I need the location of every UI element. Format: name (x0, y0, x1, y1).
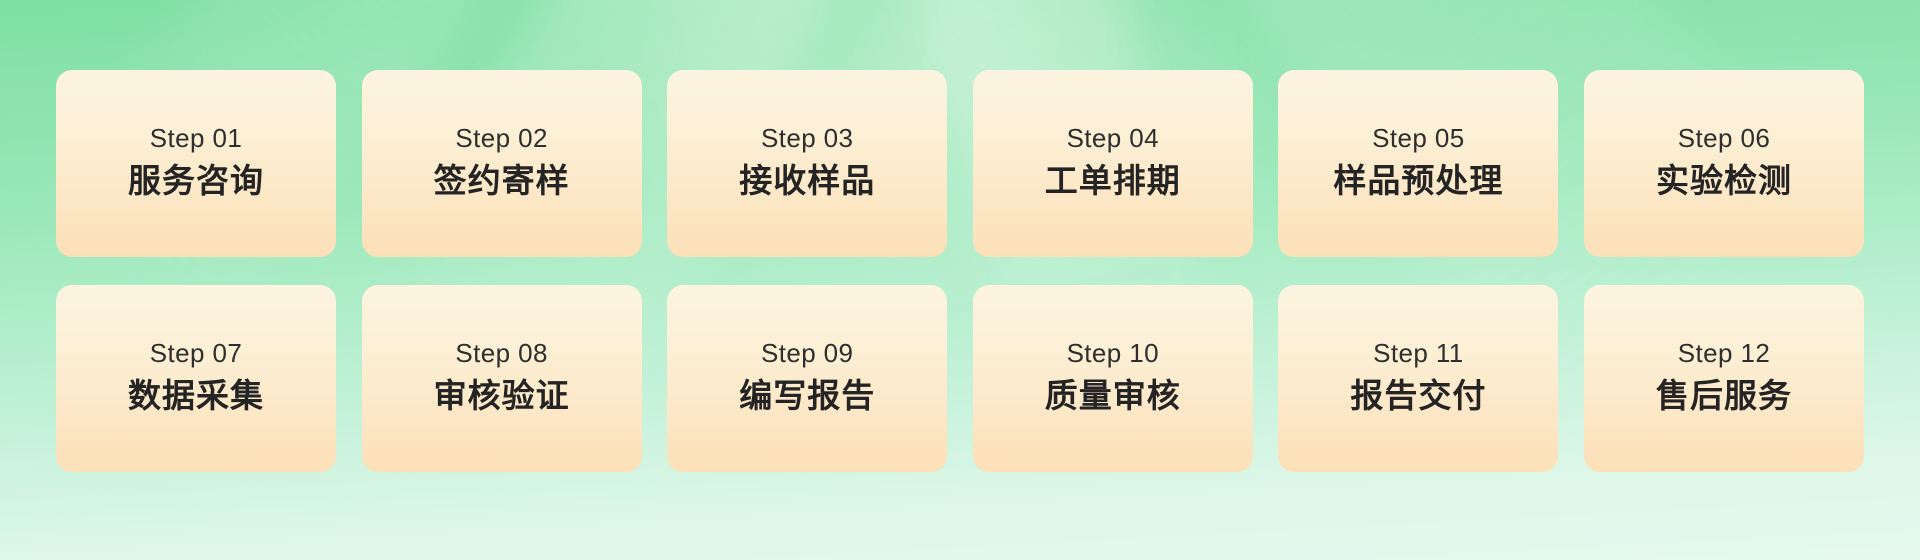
step-card-08[interactable]: Step 08 审核验证 (362, 285, 642, 472)
step-card-04[interactable]: Step 04 工单排期 (973, 70, 1253, 257)
step-title-label: 工单排期 (1045, 161, 1181, 201)
step-title-label: 报告交付 (1350, 376, 1486, 416)
step-number-label: Step 06 (1678, 122, 1770, 155)
step-card-02[interactable]: Step 02 签约寄样 (362, 70, 642, 257)
step-card-01[interactable]: Step 01 服务咨询 (56, 70, 336, 257)
step-number-label: Step 04 (1067, 122, 1159, 155)
step-number-label: Step 03 (761, 122, 853, 155)
step-number-label: Step 11 (1373, 337, 1464, 370)
step-card-11[interactable]: Step 11 报告交付 (1278, 285, 1558, 472)
step-title-label: 数据采集 (128, 376, 264, 416)
process-steps-banner: Step 01 服务咨询 Step 02 签约寄样 Step 03 接收样品 S… (0, 0, 1920, 560)
step-card-03[interactable]: Step 03 接收样品 (667, 70, 947, 257)
step-number-label: Step 12 (1678, 337, 1770, 370)
step-title-label: 签约寄样 (434, 161, 570, 201)
step-number-label: Step 02 (455, 122, 547, 155)
step-card-05[interactable]: Step 05 样品预处理 (1278, 70, 1558, 257)
step-number-label: Step 08 (455, 337, 547, 370)
step-card-10[interactable]: Step 10 质量审核 (973, 285, 1253, 472)
step-number-label: Step 01 (150, 122, 242, 155)
step-card-12[interactable]: Step 12 售后服务 (1584, 285, 1864, 472)
step-title-label: 接收样品 (739, 161, 875, 201)
step-title-label: 服务咨询 (128, 161, 264, 201)
step-number-label: Step 10 (1067, 337, 1159, 370)
step-number-label: Step 07 (150, 337, 242, 370)
step-card-07[interactable]: Step 07 数据采集 (56, 285, 336, 472)
step-title-label: 质量审核 (1045, 376, 1181, 416)
step-title-label: 审核验证 (434, 376, 570, 416)
step-title-label: 售后服务 (1656, 376, 1792, 416)
step-title-label: 编写报告 (739, 376, 875, 416)
step-title-label: 实验检测 (1656, 161, 1792, 201)
step-number-label: Step 09 (761, 337, 853, 370)
step-title-label: 样品预处理 (1333, 161, 1503, 201)
steps-grid: Step 01 服务咨询 Step 02 签约寄样 Step 03 接收样品 S… (56, 70, 1864, 472)
step-card-06[interactable]: Step 06 实验检测 (1584, 70, 1864, 257)
step-number-label: Step 05 (1372, 122, 1464, 155)
step-card-09[interactable]: Step 09 编写报告 (667, 285, 947, 472)
